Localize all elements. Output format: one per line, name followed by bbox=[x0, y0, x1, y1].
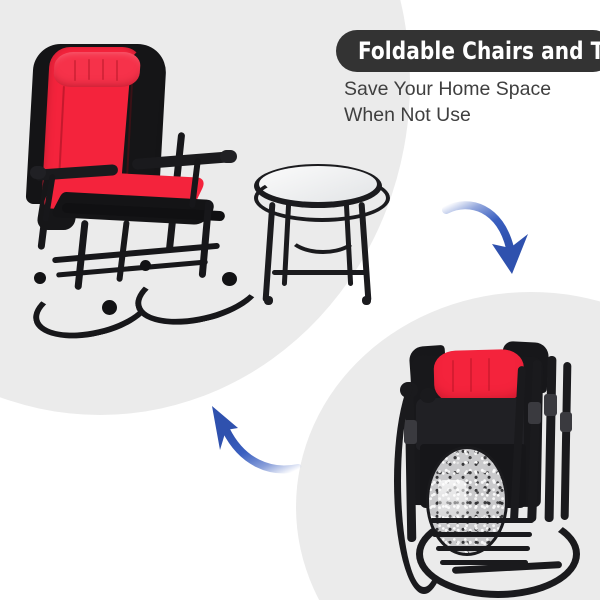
chair-foot-front-left bbox=[102, 300, 117, 315]
chair-foot-rear-right bbox=[140, 260, 151, 271]
product-glass-table bbox=[250, 158, 390, 310]
folded-pillow-fold-2 bbox=[470, 358, 472, 392]
chair-foot-front-right bbox=[222, 272, 237, 286]
chair-headrest-pillow bbox=[53, 52, 141, 87]
table-leg-front-left bbox=[263, 202, 276, 302]
folded-headrest-pillow bbox=[433, 349, 524, 403]
chair-armrest-right-cap bbox=[220, 150, 237, 163]
arrow-down-right-icon bbox=[444, 186, 564, 290]
product-rocking-chair bbox=[16, 24, 256, 319]
folded-rocker-rail-bottom bbox=[416, 510, 580, 598]
arrow-up-left-icon bbox=[186, 404, 310, 508]
folded-frame-tube-2 bbox=[545, 356, 557, 522]
folded-pillow-fold-1 bbox=[452, 360, 454, 392]
pillow-fold-4 bbox=[116, 60, 118, 81]
pillow-fold-3 bbox=[102, 59, 104, 80]
page-subtitle: Save Your Home Space When Not Use bbox=[344, 76, 600, 128]
chair-armrest-left-cap bbox=[30, 166, 46, 179]
table-cross-bar bbox=[272, 270, 366, 275]
product-folded-set bbox=[392, 332, 588, 594]
title-banner: Foldable Chairs and Table bbox=[336, 30, 600, 72]
chair-foot-rear-left bbox=[34, 272, 46, 284]
table-foot-left bbox=[264, 296, 273, 305]
pillow-fold-2 bbox=[88, 59, 90, 80]
table-folding-brace bbox=[286, 212, 360, 254]
folded-frame-clip-3 bbox=[560, 412, 572, 432]
page-title: Foldable Chairs and Table bbox=[358, 37, 600, 65]
folded-pillow-fold-3 bbox=[488, 358, 490, 391]
folded-frame-clip-1 bbox=[528, 402, 541, 424]
folded-frame-clip-2 bbox=[544, 394, 557, 416]
folded-frame-tube-3 bbox=[561, 362, 572, 520]
product-marketing-image: Foldable Chairs and Table Save Your Home… bbox=[0, 0, 600, 600]
table-foot-right bbox=[362, 296, 371, 305]
pillow-fold-1 bbox=[74, 60, 76, 81]
table-leg-front-right bbox=[359, 202, 372, 302]
